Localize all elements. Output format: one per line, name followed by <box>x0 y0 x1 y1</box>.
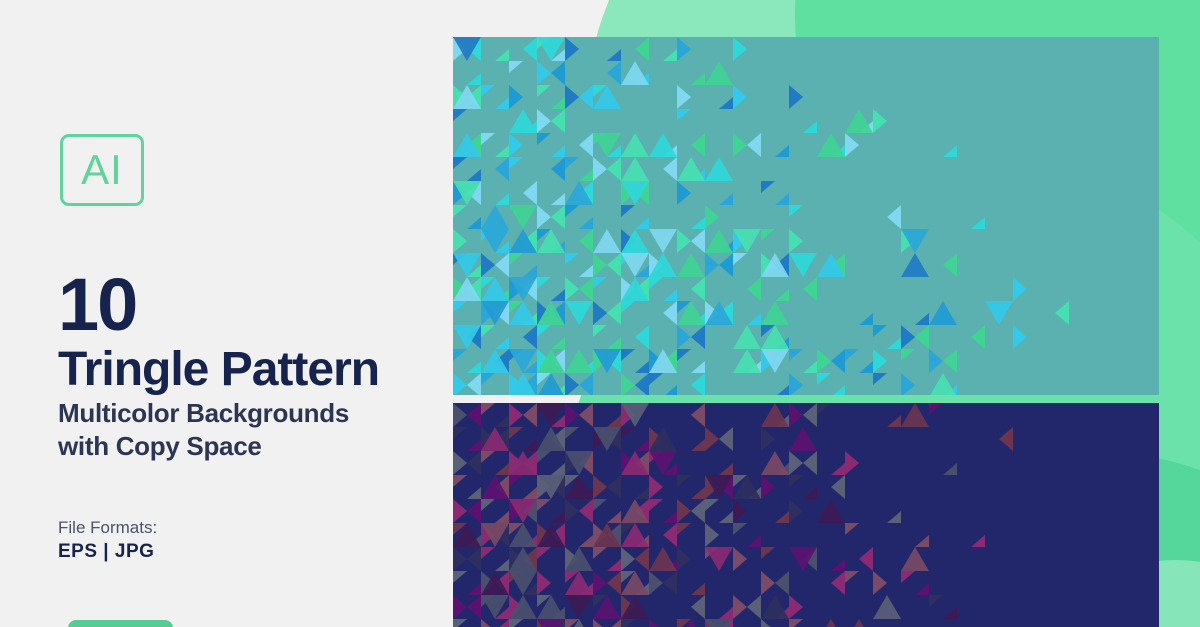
ai-format-badge: AI <box>60 134 144 206</box>
page-title: Tringle Pattern <box>58 345 379 395</box>
info-column: AI 10 Tringle Pattern Multicolor Backgro… <box>0 0 452 627</box>
ai-badge-label: AI <box>81 149 123 191</box>
teal-triangle-pattern-preview[interactable] <box>453 37 1159 395</box>
poster-canvas: AI 10 Tringle Pattern Multicolor Backgro… <box>0 0 1200 627</box>
file-formats-label: File Formats: <box>58 518 157 538</box>
navy-triangle-pattern-preview[interactable] <box>453 403 1159 627</box>
navy-pattern-canvas <box>453 403 1159 627</box>
file-formats-value: EPS | JPG <box>58 541 154 563</box>
teal-pattern-canvas <box>453 37 1159 395</box>
cta-button[interactable] <box>68 620 173 627</box>
item-count: 10 <box>58 268 136 342</box>
subtitle-line-2: with Copy Space <box>58 430 262 463</box>
subtitle-line-1: Multicolor Backgrounds <box>58 397 349 430</box>
